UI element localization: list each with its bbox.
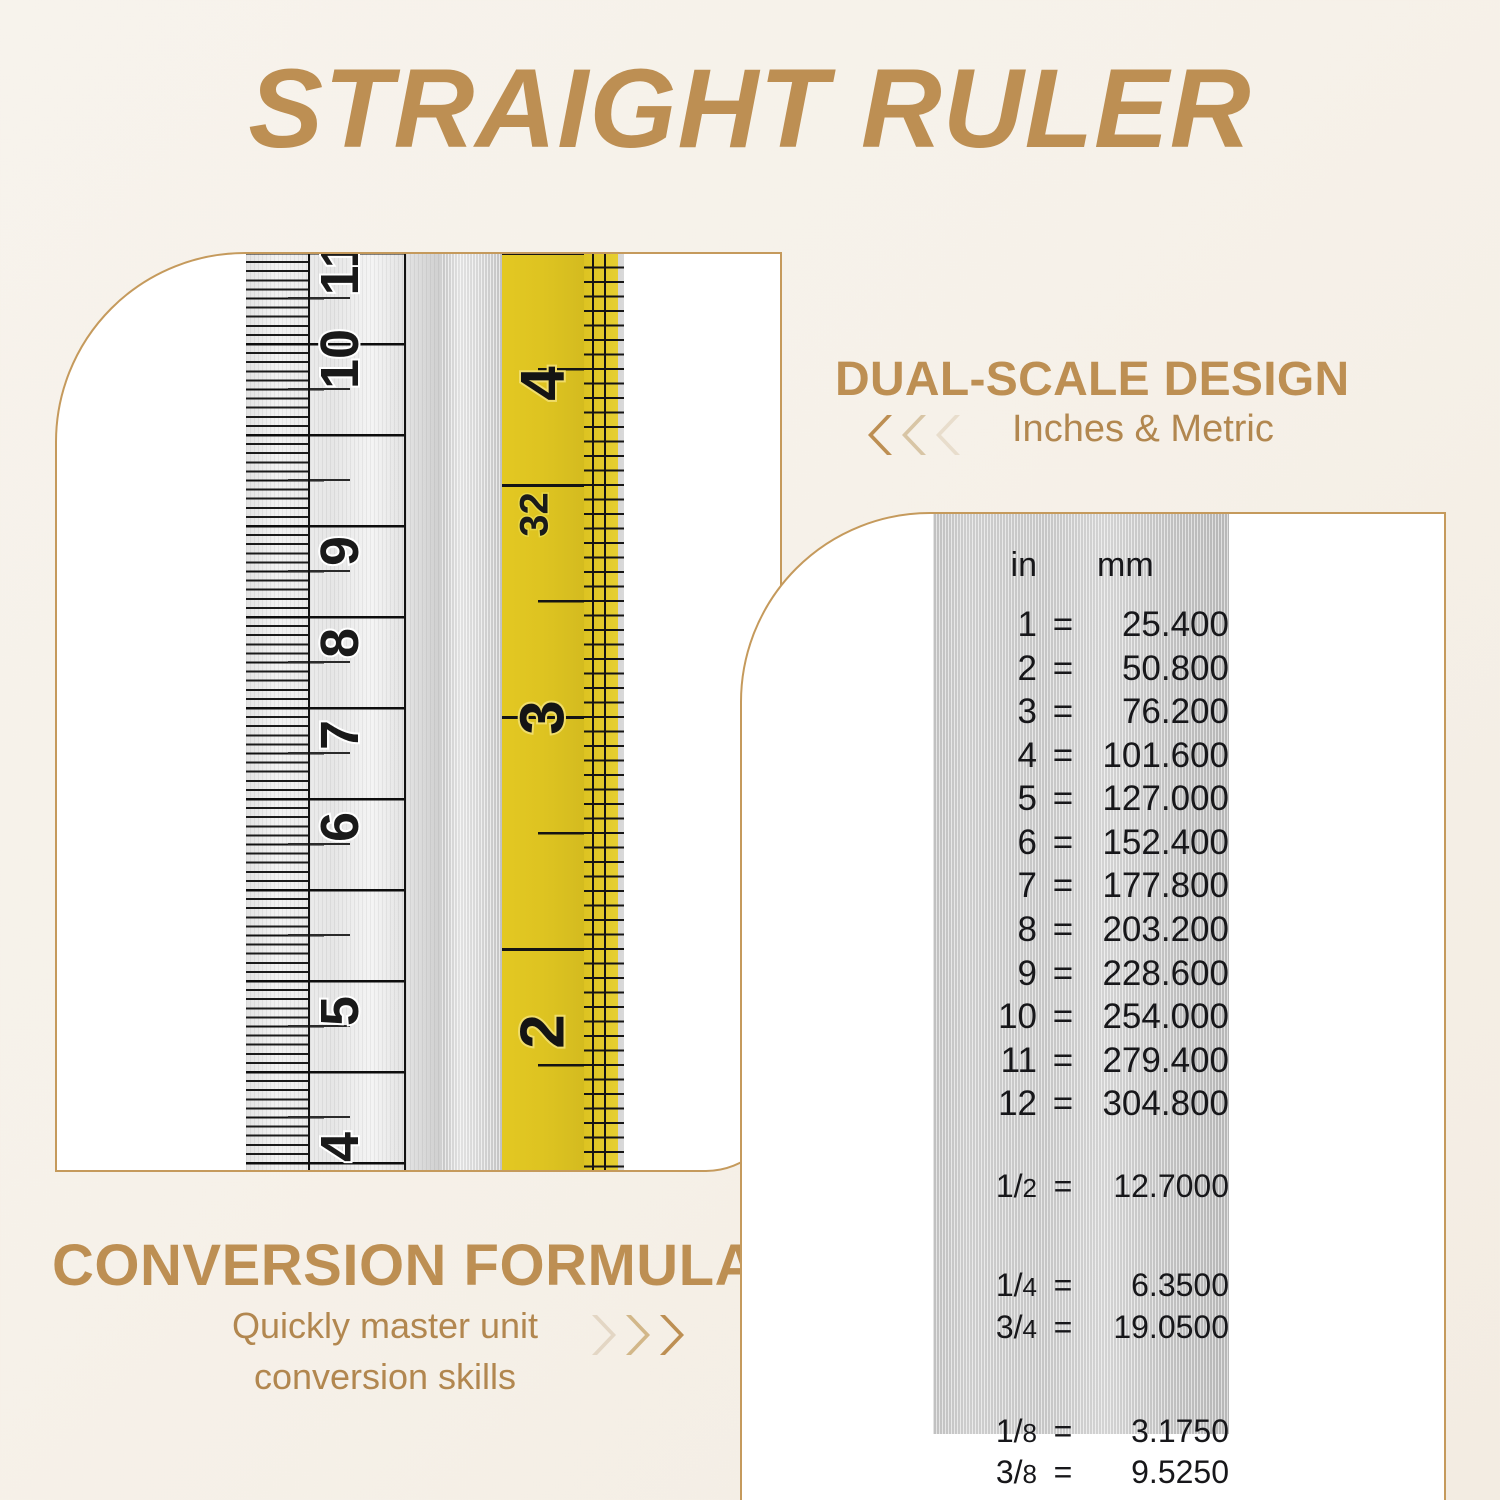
cell-in: 5	[933, 777, 1037, 821]
cell-equals: =	[1037, 1411, 1089, 1453]
conversion-subtitle-line-2: conversion skills	[210, 1351, 560, 1402]
conversion-table: in mm 1 = 25.400 2 = 50.800 3 =	[933, 546, 1229, 1500]
cell-mm: 152.400	[1089, 821, 1229, 865]
cell-in: 11	[933, 1039, 1037, 1083]
chevron-left-group	[862, 412, 960, 458]
fraction-denominator: 4	[1023, 1314, 1037, 1344]
table-row: 5 = 127.000	[933, 777, 1229, 821]
cell-mm: 203.200	[1089, 908, 1229, 952]
fractional-graduation-strip	[584, 252, 618, 1172]
cell-equals: =	[1037, 777, 1089, 821]
cell-mm: 19.0500	[1089, 1307, 1229, 1349]
inch-label-2: 2	[508, 977, 579, 1087]
cell-mm: 177.800	[1089, 864, 1229, 908]
fraction-denominator: 4	[1023, 1272, 1037, 1302]
metric-scale-band: 11 10 9 8 7 6 5 4	[246, 252, 442, 1172]
fraction-numerator: 1	[996, 1413, 1014, 1449]
cell-in: 1/8	[933, 1411, 1037, 1453]
cell-in: 1/4	[933, 1265, 1037, 1307]
cell-in: 12	[933, 1082, 1037, 1126]
inch-scale-band: 4 32 3 2	[502, 252, 584, 1172]
dual-scale-subtitle: Inches & Metric	[1012, 408, 1274, 451]
cell-mm: 50.800	[1089, 647, 1229, 691]
metric-label-4: 4	[309, 1087, 371, 1172]
whole-inch-rows: 1 = 25.400 2 = 50.800 3 = 76.200 4 =	[933, 603, 1229, 1126]
cell-equals: =	[1037, 1307, 1089, 1349]
cell-in: 7	[933, 864, 1037, 908]
cell-in: 5/8	[933, 1494, 1037, 1500]
table-row: 4 = 101.600	[933, 734, 1229, 778]
cell-equals: =	[1037, 1494, 1089, 1500]
cell-in: 4	[933, 734, 1037, 778]
fraction-numerator: 1	[996, 1168, 1014, 1204]
fine-graduation-column	[618, 252, 624, 1172]
conversion-table-plate: in mm 1 = 25.400 2 = 50.800 3 =	[933, 512, 1229, 1434]
table-row: 1/4 = 6.3500	[933, 1265, 1229, 1307]
cell-equals: =	[1037, 647, 1089, 691]
column-header-in: in	[933, 546, 1037, 585]
quarters-rows: 1/4 = 6.3500 3/4 = 19.0500	[933, 1265, 1229, 1348]
cell-equals: =	[1037, 1265, 1089, 1307]
fraction-numerator: 3	[996, 1309, 1014, 1345]
cell-mm: 12.7000	[1089, 1166, 1229, 1208]
table-row: 1/8 = 3.1750	[933, 1411, 1229, 1453]
inch-label-4: 4	[508, 329, 579, 439]
fraction-numerator: 3	[996, 1454, 1014, 1490]
cell-mm: 279.400	[1089, 1039, 1229, 1083]
cell-mm: 15.8750	[1089, 1494, 1229, 1500]
conversion-table-header: in mm	[933, 546, 1229, 585]
page-title: STRAIGHT RULER	[0, 52, 1500, 166]
sixteenth-ticks	[584, 252, 618, 1172]
ruler-image: 11 10 9 8 7 6 5 4 4 32 3 2	[246, 252, 624, 1172]
cell-mm: 3.1750	[1089, 1411, 1229, 1453]
chevron-left-icon	[862, 412, 892, 458]
metric-label-5: 5	[309, 951, 371, 1071]
cell-in: 1/2	[933, 1166, 1037, 1208]
halves-rows: 1/2 = 12.7000	[933, 1166, 1229, 1208]
cell-equals: =	[1037, 995, 1089, 1039]
chevron-left-icon	[930, 412, 960, 458]
inch-graduation-label-32: 32	[513, 460, 558, 570]
cell-mm: 76.200	[1089, 690, 1229, 734]
table-row: 3/4 = 19.0500	[933, 1307, 1229, 1349]
table-row: 9 = 228.600	[933, 952, 1229, 996]
cell-in: 3/8	[933, 1452, 1037, 1494]
cell-in: 1	[933, 603, 1037, 647]
column-header-mm: mm	[1089, 546, 1219, 585]
cell-mm: 6.3500	[1089, 1265, 1229, 1307]
cell-equals: =	[1037, 690, 1089, 734]
cell-equals: =	[1037, 1452, 1089, 1494]
cell-equals: =	[1037, 1082, 1089, 1126]
table-row: 11 = 279.400	[933, 1039, 1229, 1083]
cell-mm: 127.000	[1089, 777, 1229, 821]
cell-equals: =	[1037, 1039, 1089, 1083]
table-row: 6 = 152.400	[933, 821, 1229, 865]
conversion-table-card: in mm 1 = 25.400 2 = 50.800 3 =	[740, 512, 1446, 1500]
table-row: 10 = 254.000	[933, 995, 1229, 1039]
table-row: 1 = 25.400	[933, 603, 1229, 647]
chevron-right-icon	[626, 1312, 656, 1358]
table-row: 3/8 = 9.5250	[933, 1452, 1229, 1494]
table-row: 5/8 = 15.8750	[933, 1494, 1229, 1500]
table-row: 8 = 203.200	[933, 908, 1229, 952]
ruler-center-strip	[442, 252, 502, 1172]
fraction-numerator: 1	[996, 1267, 1014, 1303]
cell-mm: 304.800	[1089, 1082, 1229, 1126]
fraction-denominator: 2	[1023, 1173, 1037, 1203]
table-row: 12 = 304.800	[933, 1082, 1229, 1126]
cell-in: 2	[933, 647, 1037, 691]
column-header-spacer	[1037, 546, 1089, 585]
chevron-left-icon	[896, 412, 926, 458]
cell-equals: =	[1037, 952, 1089, 996]
fraction-denominator: 8	[1023, 1418, 1037, 1448]
table-row: 1/2 = 12.7000	[933, 1166, 1229, 1208]
cell-mm: 254.000	[1089, 995, 1229, 1039]
conversion-formula-heading: CONVERSION FORMULA	[52, 1232, 757, 1299]
cell-in: 10	[933, 995, 1037, 1039]
frac-rule-a	[592, 252, 594, 1172]
cell-mm: 228.600	[1089, 952, 1229, 996]
cell-in: 3	[933, 690, 1037, 734]
metric-label-10: 10	[309, 299, 371, 419]
chevron-right-icon	[660, 1312, 690, 1358]
cell-equals: =	[1037, 908, 1089, 952]
metric-label-6: 6	[309, 767, 371, 887]
cell-mm: 9.5250	[1089, 1452, 1229, 1494]
fraction-denominator: 8	[1023, 1459, 1037, 1489]
chevron-right-group	[592, 1312, 690, 1358]
cell-mm: 101.600	[1089, 734, 1229, 778]
cell-in: 9	[933, 952, 1037, 996]
chevron-right-icon	[592, 1312, 622, 1358]
table-row: 7 = 177.800	[933, 864, 1229, 908]
cell-in: 6	[933, 821, 1037, 865]
cell-mm: 25.400	[1089, 603, 1229, 647]
cell-equals: =	[1037, 603, 1089, 647]
cell-in: 8	[933, 908, 1037, 952]
eighths-rows: 1/8 = 3.1750 3/8 = 9.5250 5/8 = 15.8750	[933, 1411, 1229, 1500]
inch-label-3: 3	[508, 663, 579, 773]
conversion-formula-subtitle: Quickly master unit conversion skills	[210, 1300, 560, 1402]
table-row: 2 = 50.800	[933, 647, 1229, 691]
cell-equals: =	[1037, 1166, 1089, 1208]
fraction-numerator: 5	[996, 1496, 1014, 1500]
cell-in: 3/4	[933, 1307, 1037, 1349]
metric-divider-outer	[404, 252, 406, 1172]
table-row: 3 = 76.200	[933, 690, 1229, 734]
cell-equals: =	[1037, 864, 1089, 908]
cell-equals: =	[1037, 734, 1089, 778]
frac-rule-b	[604, 252, 606, 1172]
ruler-photo-card: 11 10 9 8 7 6 5 4 4 32 3 2	[55, 252, 782, 1172]
dual-scale-heading: DUAL-SCALE DESIGN	[835, 352, 1349, 407]
cell-equals: =	[1037, 821, 1089, 865]
conversion-subtitle-line-1: Quickly master unit	[210, 1300, 560, 1351]
